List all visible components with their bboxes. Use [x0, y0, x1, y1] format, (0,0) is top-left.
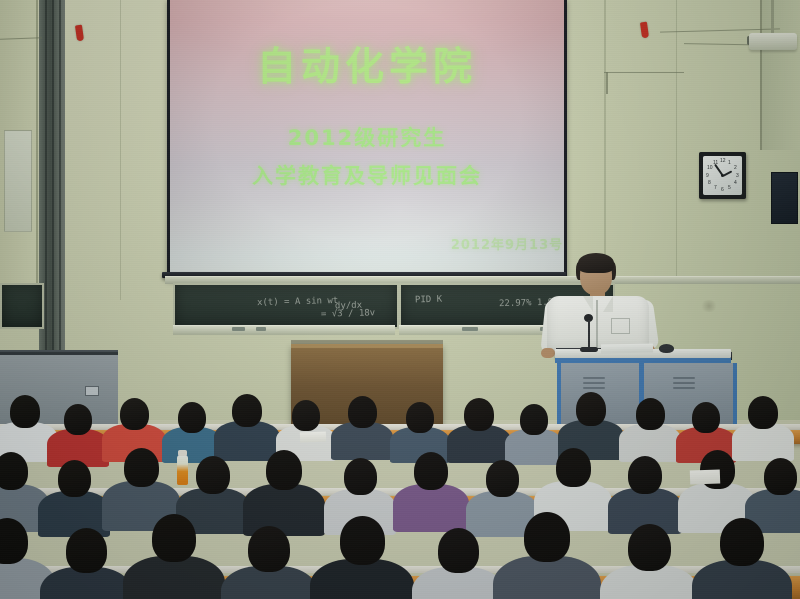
audience-member-head — [152, 514, 196, 562]
speaker-hair — [578, 253, 614, 273]
audience-member-head — [64, 404, 92, 435]
chalk-note: x(t) = A sin wt — [257, 296, 339, 308]
chalkboard-left-edge — [0, 283, 44, 329]
clock-numeral: 10 — [707, 165, 713, 171]
clock-face: 12 1 2 3 4 5 6 7 8 9 10 11 — [703, 156, 742, 195]
window-frame-right — [760, 0, 800, 150]
audience-member-head — [10, 395, 40, 428]
paper-notes — [690, 469, 720, 484]
audience-member-head — [464, 398, 494, 431]
microphone-stand — [588, 320, 590, 350]
audience-member-head — [520, 404, 548, 435]
screen-vignette — [170, 0, 564, 276]
ceiling-projector — [749, 33, 797, 50]
cabinet-latch — [85, 386, 99, 396]
audience-member-head — [692, 402, 720, 433]
chalk-tray-left — [173, 325, 395, 335]
audience-member-head — [720, 518, 764, 566]
speaker-collar-right — [603, 296, 613, 312]
paper-notes — [300, 432, 326, 443]
pipe — [59, 0, 61, 352]
clock-numeral: 9 — [706, 173, 709, 179]
podium-vent — [673, 382, 695, 384]
chalkboard-panel-left: x(t) = A sin wt dy/dx = √3 / 18v — [173, 283, 399, 329]
audience-member-head — [524, 512, 570, 562]
clock-numeral: 12 — [720, 158, 726, 164]
audience-member-torso — [493, 556, 601, 599]
audience-member-head — [414, 452, 448, 490]
audience-member-torso — [310, 559, 414, 599]
audience-member-torso — [393, 484, 469, 532]
audience-member-head — [66, 528, 107, 573]
clock-center-pin — [721, 174, 724, 177]
audience-member-torso — [123, 556, 225, 599]
audience-member-head — [266, 450, 302, 490]
speaker-shirt-placket — [596, 300, 598, 354]
audience-member-head — [232, 394, 262, 427]
audience-member-head — [438, 528, 479, 573]
drink-bottle — [177, 455, 188, 485]
audience-member-head — [636, 398, 665, 430]
chalk-note: = √3 / 18v — [321, 308, 375, 319]
audience-member-head — [556, 448, 591, 487]
pipe — [45, 0, 47, 352]
audience-member-head — [58, 460, 91, 497]
clock-hour-hand — [723, 170, 733, 176]
audience-member-head — [348, 396, 377, 428]
lecture-hall-photo: 自动化学院 2012级研究生 入学教育及导师见面会 2012年9月13号 12 … — [0, 0, 800, 599]
audience-member-head — [748, 396, 778, 429]
chalk-piece — [256, 327, 266, 331]
audience-member-head — [248, 526, 290, 572]
wall-panel-right — [771, 172, 798, 224]
wall-clock: 12 1 2 3 4 5 6 7 8 9 10 11 — [699, 152, 746, 199]
window-glass-left — [4, 130, 32, 232]
podium-vent — [583, 382, 605, 384]
audience-member-head — [344, 458, 377, 495]
speaker-collar-left — [583, 296, 593, 312]
audience-member-head — [764, 458, 797, 495]
wire — [606, 72, 608, 94]
clock-numeral: 2 — [734, 165, 737, 171]
speaker-shirt-pocket — [611, 318, 630, 334]
audience-member-head — [406, 402, 434, 433]
podium-vent — [673, 377, 695, 379]
cabinet-top-edge — [0, 352, 118, 355]
audience-member-head — [0, 452, 28, 490]
projection-screen: 自动化学院 2012级研究生 入学教育及导师见面会 2012年9月13号 — [167, 0, 567, 279]
chalk-eraser — [462, 327, 478, 331]
chalk-piece — [232, 327, 245, 331]
audience-member-head — [486, 460, 519, 497]
speaker-left-hand — [541, 348, 555, 358]
clock-numeral: 7 — [714, 185, 717, 191]
clock-numeral: 5 — [728, 185, 731, 191]
audience-member-head — [628, 524, 671, 571]
pipe — [52, 0, 54, 352]
audience-member-head — [576, 392, 606, 426]
bottle-cap — [178, 450, 187, 456]
computer-mouse — [659, 344, 674, 353]
podium-vent — [673, 387, 695, 389]
podium-papers — [601, 344, 653, 354]
audience-member-head — [196, 456, 230, 494]
podium-vent — [583, 377, 605, 379]
wire — [604, 72, 684, 73]
audience-member-head — [340, 516, 385, 565]
wall-seam — [676, 0, 677, 280]
audience-member-torso — [243, 484, 325, 536]
audience-member-head — [628, 456, 662, 494]
audience-member-torso — [38, 491, 110, 537]
projector-mount-rod — [771, 0, 774, 34]
clock-numeral: 4 — [734, 180, 737, 186]
audience-member-head — [124, 448, 159, 487]
clock-numeral: 6 — [721, 187, 724, 193]
audience-member-torso — [214, 421, 280, 461]
wall-stain — [700, 300, 718, 312]
clock-numeral: 8 — [708, 180, 711, 186]
audience-member-head — [178, 402, 206, 433]
audience-member-head — [120, 398, 149, 430]
podium-vent — [583, 387, 605, 389]
clock-numeral: 1 — [728, 160, 731, 166]
wall-seam — [120, 0, 121, 300]
audience-member-head — [292, 400, 320, 431]
chalk-note: PID K — [415, 295, 442, 306]
microphone-base — [580, 347, 598, 352]
clock-numeral: 3 — [736, 173, 739, 179]
